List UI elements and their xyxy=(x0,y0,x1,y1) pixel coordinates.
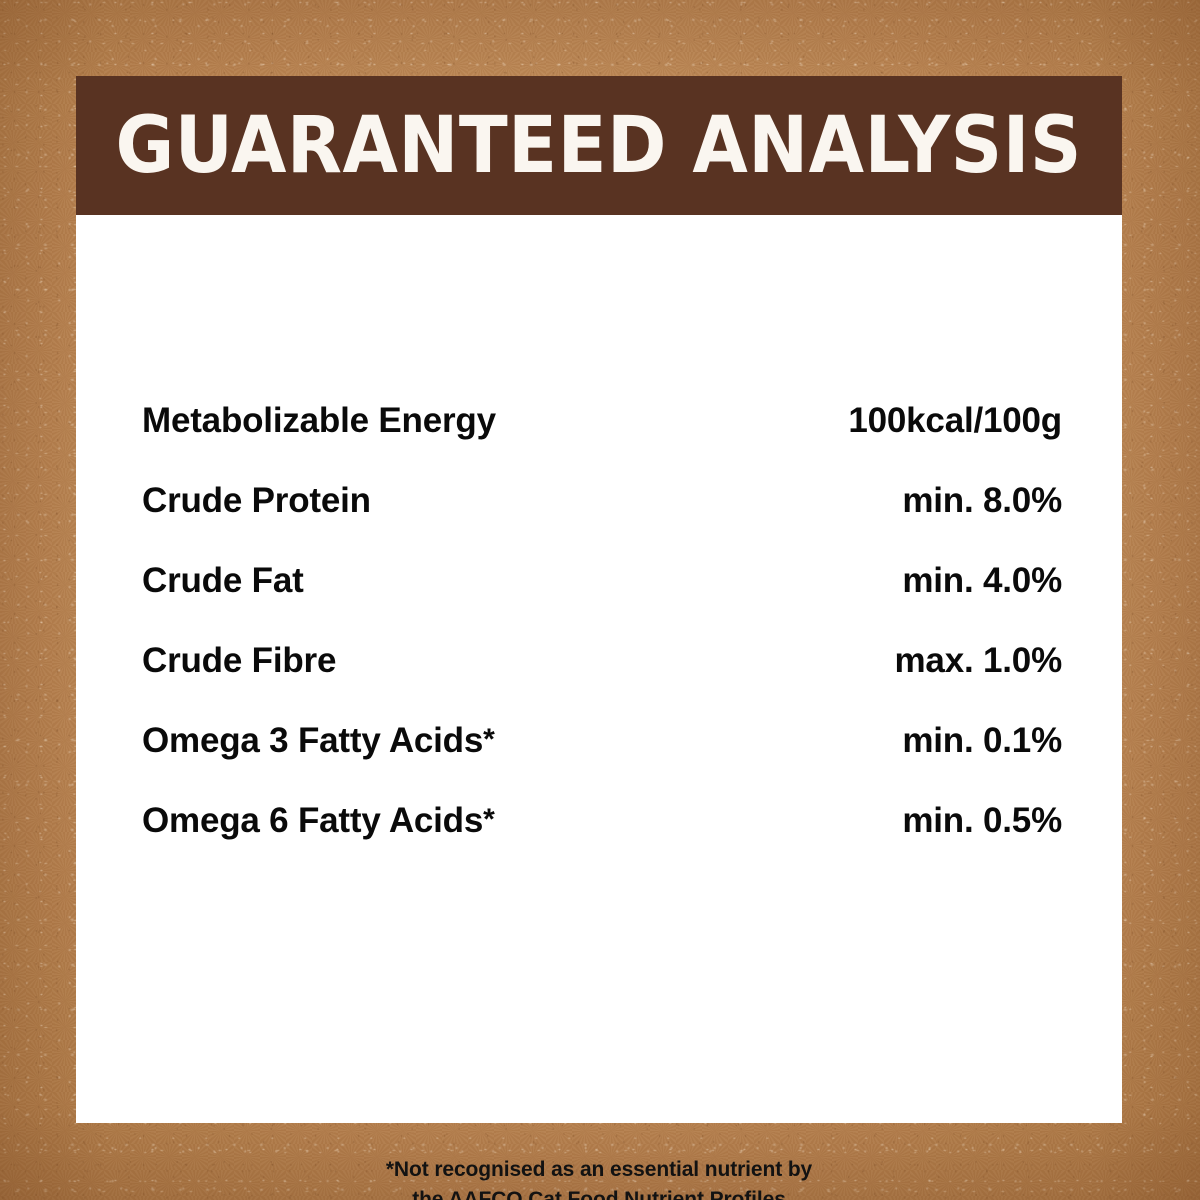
nutrient-label: Omega 3 Fatty Acids* xyxy=(142,721,495,761)
nutrient-label: Crude Protein xyxy=(142,481,371,521)
header-band: GUARANTEED ANALYSIS xyxy=(76,76,1122,215)
footnote-marker: * xyxy=(483,723,494,756)
footnote-line-2: the AAFCO Cat Food Nutrient Profiles xyxy=(76,1185,1122,1200)
page-title: GUARANTEED ANALYSIS xyxy=(116,107,1082,185)
nutrient-row: Omega 6 Fatty Acids*....................… xyxy=(142,801,1062,881)
nutrient-label: Crude Fibre xyxy=(142,641,336,681)
nutrient-value: min. 0.5% xyxy=(902,801,1062,841)
nutrient-row: Crude Fat...............................… xyxy=(142,561,1062,641)
nutrient-value: max. 1.0% xyxy=(895,641,1062,681)
nutrient-value: min. 8.0% xyxy=(902,481,1062,521)
nutrient-row: Crude Fibre.............................… xyxy=(142,641,1062,721)
guaranteed-analysis-card: GUARANTEED ANALYSIS Metabolizable Energy… xyxy=(76,76,1122,1123)
nutrient-value: min. 0.1% xyxy=(902,721,1062,761)
nutrient-value: min. 4.0% xyxy=(902,561,1062,601)
footnote-marker: * xyxy=(483,803,494,836)
footnote: *Not recognised as an essential nutrient… xyxy=(76,1155,1122,1200)
nutrient-row: Omega 3 Fatty Acids*....................… xyxy=(142,721,1062,801)
nutrient-row: Metabolizable Energy....................… xyxy=(142,401,1062,481)
nutrient-label: Omega 6 Fatty Acids* xyxy=(142,801,495,841)
nutrient-label: Crude Fat xyxy=(142,561,304,601)
nutrient-row: Crude Protein...........................… xyxy=(142,481,1062,561)
nutrient-table: Metabolizable Energy....................… xyxy=(142,401,1062,881)
nutrient-value: 100kcal/100g xyxy=(848,401,1062,441)
card-body: Metabolizable Energy....................… xyxy=(76,215,1122,1123)
footnote-line-1: *Not recognised as an essential nutrient… xyxy=(76,1155,1122,1185)
nutrient-label: Metabolizable Energy xyxy=(142,401,496,441)
